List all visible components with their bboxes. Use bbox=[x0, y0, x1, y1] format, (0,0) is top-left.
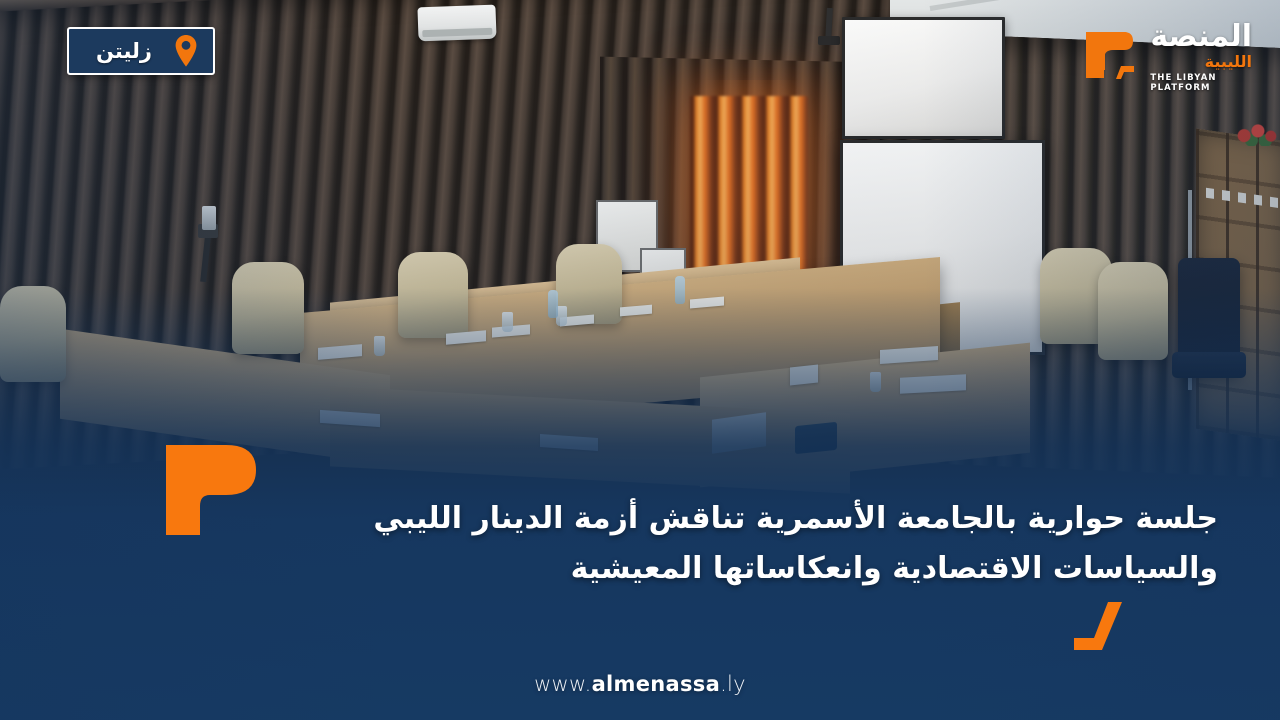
brand-logo-wordmark: المنصة الليبية THE LIBYAN PLATFORM bbox=[1150, 18, 1252, 93]
brand-name-english-line2: PLATFORM bbox=[1150, 83, 1226, 93]
url-prefix: www. bbox=[534, 672, 591, 696]
headline: جلسة حوارية بالجامعة الأسمرية تناقش أزمة… bbox=[170, 494, 1218, 595]
url-domain: almenassa bbox=[592, 672, 721, 696]
location-badge[interactable]: زليتن bbox=[67, 27, 215, 75]
site-url[interactable]: www.almenassa.ly bbox=[0, 672, 1280, 696]
url-tld: .ly bbox=[720, 672, 746, 696]
map-pin-icon bbox=[173, 34, 199, 68]
news-graphic-card: زليتن المنصة الليبية THE LIBYAN PLATFORM… bbox=[0, 0, 1280, 720]
brand-logo-mark-icon bbox=[1072, 18, 1144, 90]
orange-corner-decoration bbox=[1072, 600, 1132, 652]
headline-line-1: جلسة حوارية بالجامعة الأسمرية تناقش أزمة… bbox=[373, 501, 1218, 536]
brand-name-arabic-sub: الليبية bbox=[1150, 53, 1252, 71]
brand-logo[interactable]: المنصة الليبية THE LIBYAN PLATFORM bbox=[1072, 18, 1252, 93]
location-badge-label: زليتن bbox=[79, 39, 173, 63]
headline-line-2: والسياسات الاقتصادية وانعكاساتها المعيشي… bbox=[170, 544, 1218, 594]
brand-name-english-line1: THE LIBYAN bbox=[1150, 73, 1226, 83]
brand-name-arabic: المنصة bbox=[1150, 22, 1252, 52]
